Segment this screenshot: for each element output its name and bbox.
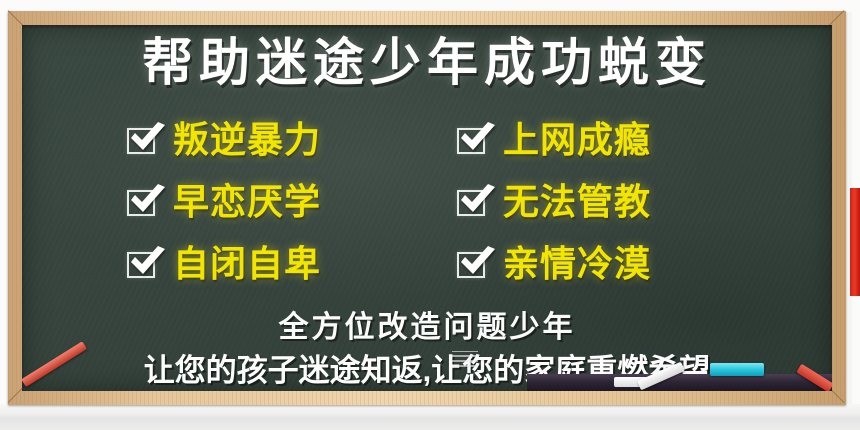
list-item-label: 无法管教 [503, 184, 651, 220]
check-icon [455, 118, 497, 158]
page-background-bottom [0, 404, 860, 430]
check-icon [125, 180, 167, 220]
chalkboard-surface: 帮助迷途少年成功蜕变 叛逆暴力 上网成瘾 [22, 25, 832, 391]
subtitle-primary: 全方位改造问题少年 [22, 313, 832, 343]
checkbox-icon[interactable] [126, 248, 164, 281]
list-item[interactable]: 上网成瘾 [456, 109, 746, 171]
list-item[interactable]: 叛逆暴力 [126, 109, 456, 171]
check-icon [125, 118, 167, 158]
list-item-label: 上网成瘾 [503, 122, 651, 158]
blackboard-eraser-icon [710, 363, 764, 376]
checkbox-icon[interactable] [456, 186, 494, 219]
checkbox-icon[interactable] [456, 248, 494, 281]
poster-canvas: 帮助迷途少年成功蜕变 叛逆暴力 上网成瘾 [0, 0, 860, 430]
checkbox-icon[interactable] [126, 124, 164, 157]
list-item-label: 亲情冷漠 [503, 246, 651, 282]
list-item[interactable]: 早恋厌学 [126, 171, 456, 233]
list-item[interactable]: 无法管教 [456, 171, 746, 233]
list-item-label: 叛逆暴力 [173, 122, 321, 158]
page-title: 帮助迷途少年成功蜕变 [22, 37, 832, 88]
list-item[interactable]: 亲情冷漠 [456, 233, 746, 295]
check-icon [125, 242, 167, 282]
red-edge-sliver [850, 188, 860, 296]
list-item[interactable]: 自闭自卑 [126, 233, 456, 295]
list-item-label: 自闭自卑 [173, 246, 321, 282]
checkbox-icon[interactable] [456, 124, 494, 157]
chalk-ledge [527, 374, 832, 391]
check-icon [455, 242, 497, 282]
checkbox-icon[interactable] [126, 186, 164, 219]
page-background-left [0, 0, 6, 430]
list-item-label: 早恋厌学 [173, 184, 321, 220]
check-icon [455, 180, 497, 220]
checklist: 叛逆暴力 上网成瘾 早恋厌学 [126, 109, 746, 295]
chalk-smudge [452, 351, 478, 367]
